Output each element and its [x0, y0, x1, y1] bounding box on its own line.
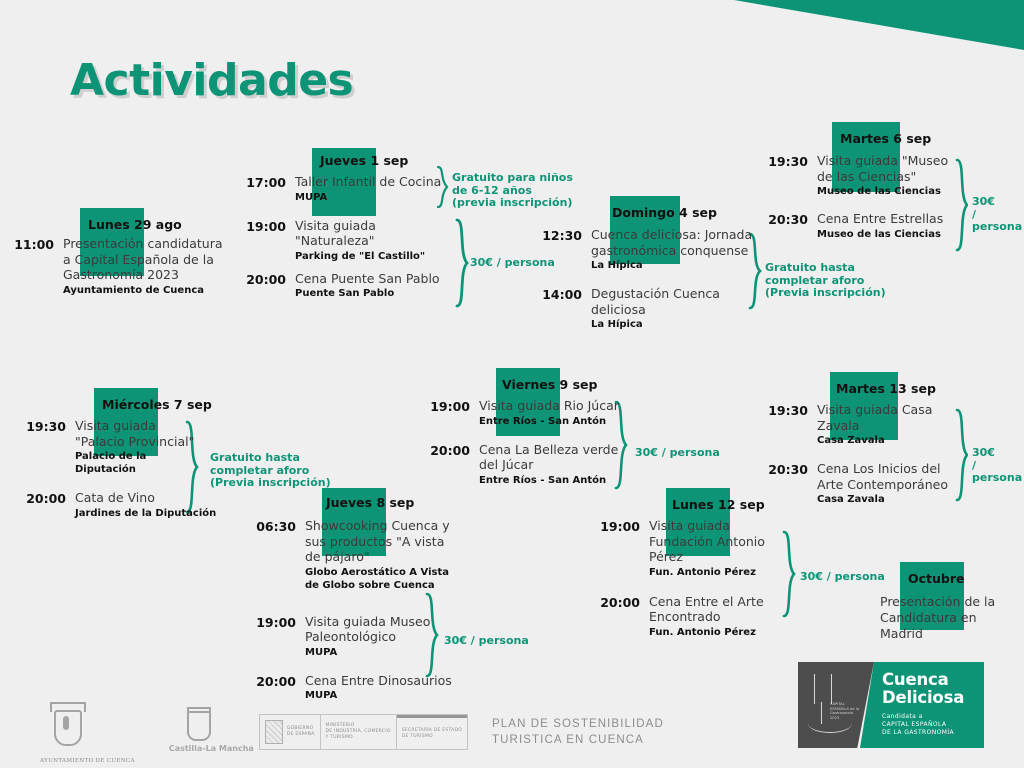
event-time: 19:00 — [600, 518, 640, 534]
event-row: 20:00 Cena Entre el Arte Encontrado Fun.… — [600, 594, 820, 639]
brand-tagline-3: DE LA GASTRONOMÍA — [882, 729, 984, 737]
event-row: 12:30 Cuenca deliciosa: Jornada gastronó… — [530, 227, 760, 272]
day-label: Jueves 1 sep — [320, 153, 408, 168]
ayuntamiento-caption: AYUNTAMIENTO DE CUENCA — [40, 758, 135, 764]
event-row: 19:00 Visita guiada "Naturaleza" Parking… — [246, 218, 456, 263]
event-venue: MUPA — [295, 191, 441, 204]
gob-cell-ministerio: MINISTERIO DE INDUSTRIA, COMERCIO Y TURI… — [321, 715, 397, 749]
event-venue: La Hípica — [591, 259, 760, 272]
gob-cell-secretaria: SECRETARÍA DE ESTADO DE TURISMO — [397, 715, 467, 749]
event-title: Presentación candidatura a Capital Españ… — [63, 236, 231, 283]
event-venue: Casa Zavala — [817, 493, 959, 506]
day-block-jueves-1-sep: Jueves 1 sep 17:00 Taller Infantil de Co… — [246, 148, 456, 308]
event-row: 19:30 Visita guiada "Palacio Provincial"… — [26, 418, 246, 476]
event-row: 20:00 Cena La Belleza verde del Júcar En… — [430, 442, 650, 487]
event-time: 19:00 — [256, 614, 296, 630]
event-row: 20:00 Cena Entre Dinosaurios MUPA — [256, 673, 486, 703]
event-time: 12:30 — [530, 227, 582, 243]
event-time: 20:00 — [430, 442, 470, 458]
event-row: 19:30 Visita guiada Casa Zavala Casa Zav… — [768, 402, 978, 447]
gobierno-espana-logo: GOBIERNO DE ESPAÑA MINISTERIO DE INDUSTR… — [259, 714, 468, 750]
event-time: 20:30 — [768, 461, 808, 477]
day-block-lunes-12-sep: Lunes 12 sep 19:00 Visita guiada Fundaci… — [600, 488, 820, 647]
day-label: Miércoles 7 sep — [102, 397, 212, 412]
day-label: Martes 6 sep — [840, 131, 931, 146]
day-label: Viernes 9 sep — [502, 377, 597, 392]
ayuntamiento-logo: AYUNTAMIENTO DE CUENCA — [40, 700, 135, 764]
event-body: Cena Entre Estrellas Museo de las Cienci… — [817, 211, 943, 241]
brand-name-line-1: Cuenca — [882, 671, 984, 689]
event-body: Cena Puente San Pablo Puente San Pablo — [295, 271, 440, 301]
event-body: Visita guiada "Museo de las Ciencias" Mu… — [817, 153, 965, 198]
event-venue: Parking de "El Castillo" — [295, 250, 455, 263]
day-block-lunes-29-ago: Lunes 29 ago 11:00 Presentación candidat… — [14, 208, 244, 305]
day-block-octubre: Octubre Presentación de la Candidatura e… — [870, 562, 1020, 642]
event-title: Showcooking Cuenca y sus productos "A vi… — [305, 518, 463, 565]
event-title: Cena Los Inicios del Arte Contemporáneo — [817, 461, 959, 492]
castle-icon — [187, 711, 211, 741]
event-title: Visita guiada "Palacio Provincial" — [75, 418, 203, 449]
brand-name-line-2: Deliciosa — [882, 689, 984, 707]
event-venue: Ayuntamiento de Cuenca — [63, 284, 231, 297]
event-body: Visita guiada Rio Júcar Entre Ríos - San… — [479, 398, 619, 428]
event-row: 14:00 Degustación Cuenca deliciosa La Hí… — [530, 286, 760, 331]
event-venue: Fun. Antonio Pérez — [649, 566, 777, 579]
octubre-description: Presentación de la Candidatura en Madrid — [870, 594, 1020, 642]
event-title: Cena La Belleza verde del Júcar — [479, 442, 621, 473]
event-time: 19:30 — [26, 418, 66, 434]
event-body: Cena La Belleza verde del Júcar Entre Rí… — [479, 442, 621, 487]
event-row: 20:00 Cena Puente San Pablo Puente San P… — [246, 271, 456, 301]
event-time: 19:30 — [768, 153, 808, 169]
wine-glass-icon — [814, 674, 832, 704]
page-title: Actividades — [70, 55, 353, 106]
event-body: Visita guiada "Naturaleza" Parking de "E… — [295, 218, 455, 263]
day-block-viernes-9-sep: Viernes 9 sep 19:00 Visita guiada Rio Jú… — [430, 368, 650, 495]
clm-caption: Castilla-La Mancha — [169, 744, 229, 753]
price-note: 30€ / persona — [972, 196, 1024, 234]
key-shape — [63, 716, 69, 730]
day-label: Martes 13 sep — [836, 381, 936, 396]
event-body: Visita guiada Fundación Antonio Pérez Fu… — [649, 518, 777, 579]
corner-wedge-decoration — [684, 0, 1024, 50]
event-row: 11:00 Presentación candidatura a Capital… — [14, 236, 244, 297]
event-row: 19:00 Visita guiada Rio Júcar Entre Ríos… — [430, 398, 650, 428]
day-block-martes-6-sep: Martes 6 sep 19:30 Visita guiada "Museo … — [768, 122, 978, 249]
plan-line-1: PLAN DE SOSTENIBILIDAD — [492, 716, 664, 732]
event-time: 06:30 — [256, 518, 296, 534]
cuenca-deliciosa-brandmark: CAPITAL ESPAÑOLA de la Gastronomía 2023 … — [798, 662, 984, 748]
event-body: Cena Entre Dinosaurios MUPA — [305, 673, 452, 703]
event-row: 20:30 Cena Entre Estrellas Museo de las … — [768, 211, 978, 241]
event-body: Presentación candidatura a Capital Españ… — [63, 236, 231, 297]
brandmark-name-panel: Cuenca Deliciosa Candidata a CAPITAL ESP… — [860, 662, 984, 748]
event-body: Visita guiada Casa Zavala Casa Zavala — [817, 402, 967, 447]
gob-text-2: MINISTERIO DE INDUSTRIA, COMERCIO Y TURI… — [326, 723, 391, 741]
event-venue: MUPA — [305, 689, 452, 702]
event-body: Visita guiada Museo Paleontológico MUPA — [305, 614, 435, 659]
event-body: Degustación Cuenca deliciosa La Hípica — [591, 286, 760, 331]
event-body: Showcooking Cuenca y sus productos "A vi… — [305, 518, 463, 592]
event-time: 20:00 — [26, 490, 66, 506]
event-row: 17:00 Taller Infantil de Cocina MUPA — [246, 174, 456, 204]
event-title: Visita guiada Casa Zavala — [817, 402, 967, 433]
spain-crest-icon — [265, 720, 283, 744]
day-block-miercoles-7-sep: Miércoles 7 sep 19:30 Visita guiada "Pal… — [26, 388, 246, 528]
event-venue: Entre Ríos - San Antón — [479, 415, 619, 428]
event-time: 19:00 — [430, 398, 470, 414]
event-body: Taller Infantil de Cocina MUPA — [295, 174, 441, 204]
gob-text-1: GOBIERNO DE ESPAÑA — [287, 726, 315, 738]
day-block-domingo-4-sep: Domingo 4 sep 12:30 Cuenca deliciosa: Jo… — [530, 196, 760, 339]
event-time: 19:00 — [246, 218, 286, 234]
event-title: Cata de Vino — [75, 490, 216, 506]
castilla-la-mancha-logo: Castilla-La Mancha — [169, 711, 229, 753]
event-body: Cuenca deliciosa: Jornada gastronómica c… — [591, 227, 760, 272]
event-time: 19:30 — [768, 402, 808, 418]
event-body: Cena Entre el Arte Encontrado Fun. Anton… — [649, 594, 767, 639]
event-title: Visita guiada Fundación Antonio Pérez — [649, 518, 777, 565]
cuenca-crest-icon — [40, 700, 92, 756]
event-row: 06:30 Showcooking Cuenca y sus productos… — [256, 518, 486, 592]
brace-icon — [455, 218, 469, 308]
event-title: Visita guiada Museo Paleontológico — [305, 614, 435, 645]
event-title: Visita guiada Rio Júcar — [479, 398, 619, 414]
event-title: Cuenca deliciosa: Jornada gastronómica c… — [591, 227, 760, 258]
event-row: 19:00 Visita guiada Museo Paleontológico… — [256, 614, 486, 659]
event-title: Taller Infantil de Cocina — [295, 174, 441, 190]
event-time: 20:00 — [256, 673, 296, 689]
event-time: 20:00 — [600, 594, 640, 610]
event-title: Degustación Cuenca deliciosa — [591, 286, 760, 317]
day-block-jueves-8-sep: Jueves 8 sep 06:30 Showcooking Cuenca y … — [256, 488, 486, 710]
event-title: Cena Entre Estrellas — [817, 211, 943, 227]
day-label: Jueves 8 sep — [326, 495, 414, 510]
day-label: Octubre — [908, 571, 965, 586]
event-body: Cena Los Inicios del Arte Contemporáneo … — [817, 461, 959, 506]
event-venue: Palacio de la Diputación — [75, 450, 203, 476]
event-body: Cata de Vino Jardines de la Diputación — [75, 490, 216, 520]
footer-logo-strip: AYUNTAMIENTO DE CUENCA Castilla-La Manch… — [40, 700, 664, 764]
event-venue: Museo de las Ciencias — [817, 228, 943, 241]
event-venue: Museo de las Ciencias — [817, 185, 965, 198]
brand-tagline-2: CAPITAL ESPAÑOLA — [882, 721, 984, 729]
plan-line-2: TURISTICA EN CUENCA — [492, 732, 664, 748]
event-row: 19:30 Visita guiada "Museo de las Cienci… — [768, 153, 978, 198]
event-time: 17:00 — [246, 174, 286, 190]
brandmark-mini-caption: CAPITAL ESPAÑOLA de la Gastronomía 2023 — [830, 702, 859, 720]
event-row: 19:00 Visita guiada Fundación Antonio Pé… — [600, 518, 820, 579]
event-venue: Globo Aerostático A Vista de Globo sobre… — [305, 566, 463, 592]
event-list: 06:30 Showcooking Cuenca y sus productos… — [256, 488, 486, 702]
event-venue: Puente San Pablo — [295, 287, 440, 300]
event-time: 20:30 — [768, 211, 808, 227]
plan-sostenibilidad-text: PLAN DE SOSTENIBILIDAD TURISTICA EN CUEN… — [492, 716, 664, 748]
event-list: 17:00 Taller Infantil de Cocina MUPA 19:… — [246, 148, 456, 300]
price-note: 30€ / persona — [972, 447, 1024, 485]
day-label: Lunes 12 sep — [672, 497, 765, 512]
event-time: 14:00 — [530, 286, 582, 302]
event-venue: Jardines de la Diputación — [75, 507, 216, 520]
gob-cell-crest: GOBIERNO DE ESPAÑA — [260, 715, 321, 749]
event-title: Cena Entre Dinosaurios — [305, 673, 452, 689]
event-time: 11:00 — [14, 236, 54, 252]
event-venue: Entre Ríos - San Antón — [479, 474, 621, 487]
gob-text-3: SECRETARÍA DE ESTADO DE TURISMO — [402, 728, 462, 740]
event-time: 20:00 — [246, 271, 286, 287]
day-label: Lunes 29 ago — [88, 217, 182, 232]
event-title: Visita guiada "Naturaleza" — [295, 218, 455, 249]
event-venue: La Hípica — [591, 318, 760, 331]
day-label: Domingo 4 sep — [612, 205, 717, 220]
event-venue: Casa Zavala — [817, 434, 967, 447]
poster-canvas: Actividades Lunes 29 ago 11:00 Presentac… — [0, 0, 1024, 768]
event-venue: MUPA — [305, 646, 435, 659]
event-title: Cena Puente San Pablo — [295, 271, 440, 287]
event-title: Visita guiada "Museo de las Ciencias" — [817, 153, 965, 184]
price-note: Gratuito hasta completar aforo (Previa i… — [765, 262, 886, 300]
event-body: Visita guiada "Palacio Provincial" Palac… — [75, 418, 203, 476]
event-row: 20:00 Cata de Vino Jardines de la Diputa… — [26, 490, 246, 520]
event-title: Cena Entre el Arte Encontrado — [649, 594, 767, 625]
event-venue: Fun. Antonio Pérez — [649, 626, 767, 639]
brand-tagline-1: Candidata a — [882, 713, 984, 721]
